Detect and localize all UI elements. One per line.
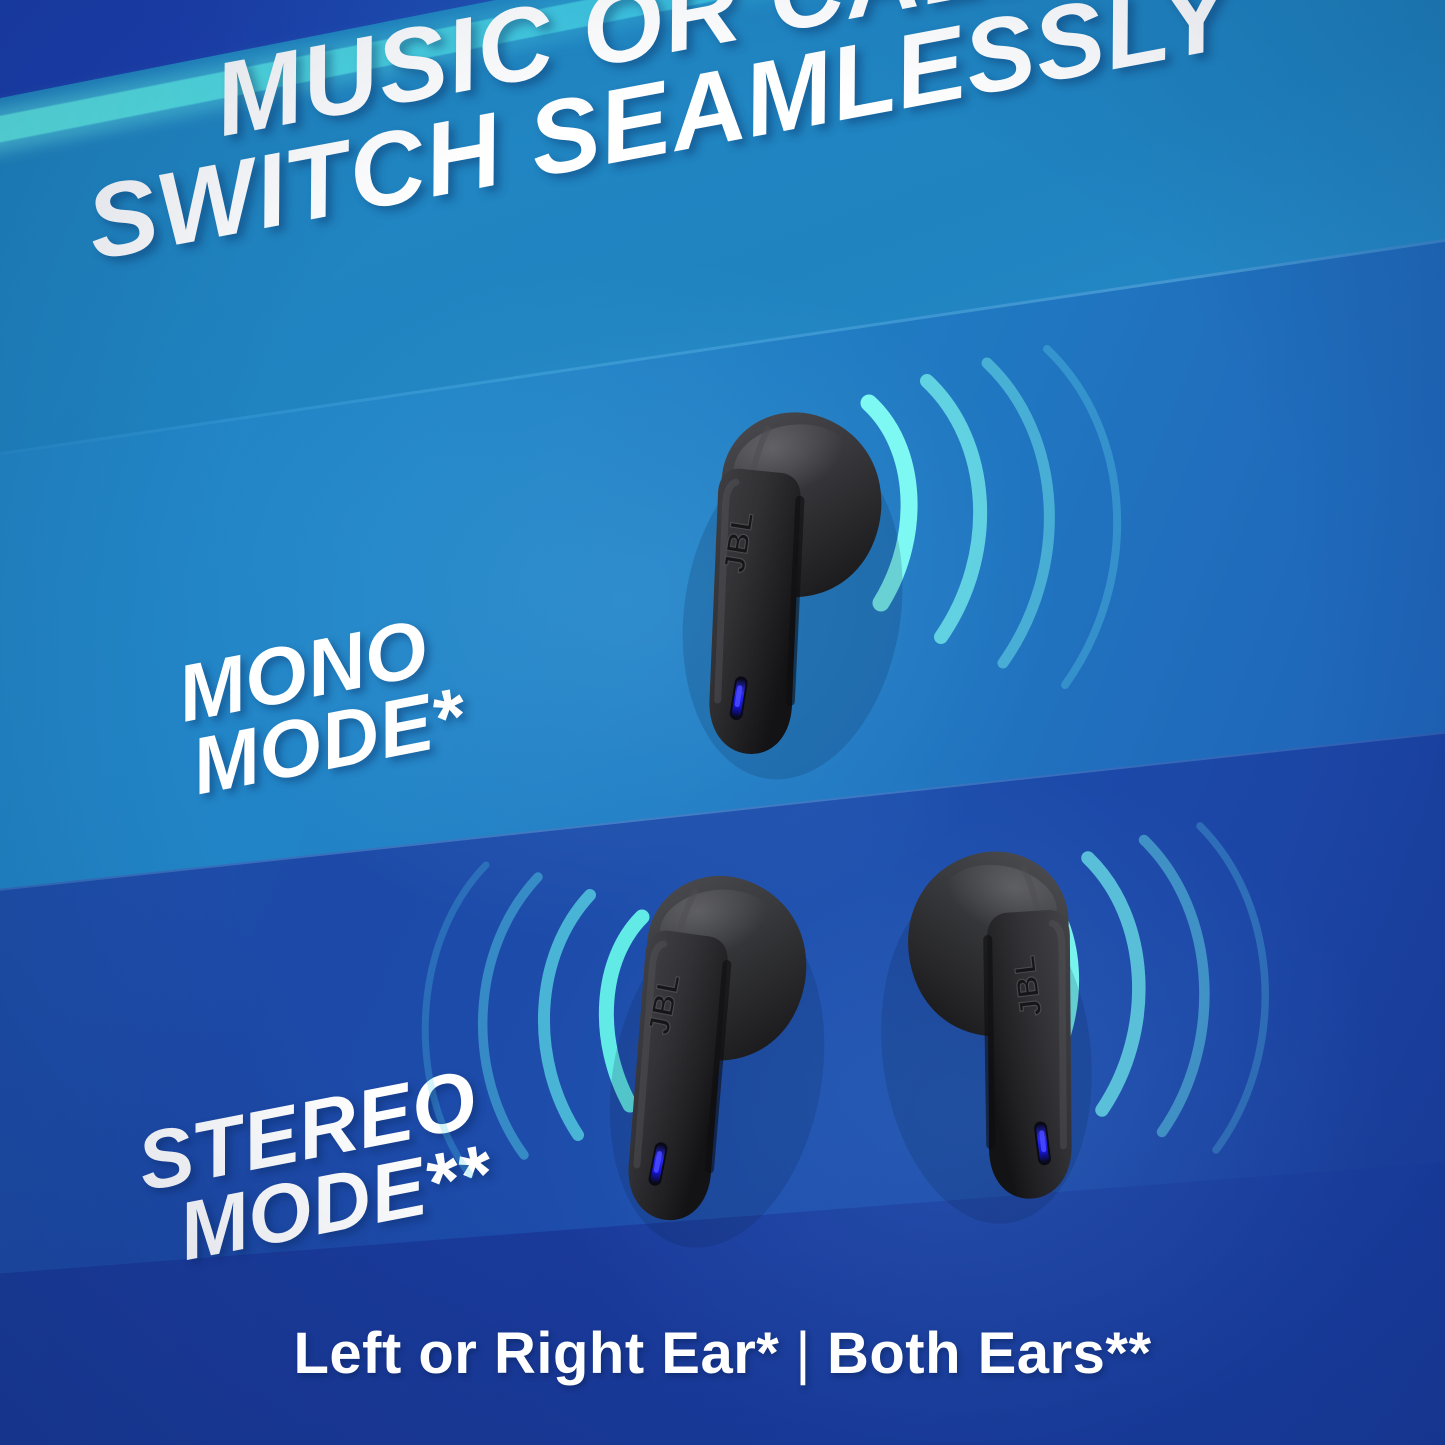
footer-separator: |	[779, 1321, 827, 1386]
stereo-earbud-right: JBL	[840, 840, 1140, 1240]
stereo-earbud-left: JBL	[570, 862, 860, 1262]
footer-right-text: Both Ears**	[827, 1321, 1152, 1386]
footer-left-text: Left or Right Ear*	[293, 1321, 779, 1386]
mono-earbud: JBL	[645, 400, 935, 790]
promo-banner: MUSIC OR CALLS? SWITCH SEAMLESSLY MONO M…	[0, 0, 1445, 1445]
footer-caption: Left or Right Ear*|Both Ears**	[0, 1320, 1445, 1387]
